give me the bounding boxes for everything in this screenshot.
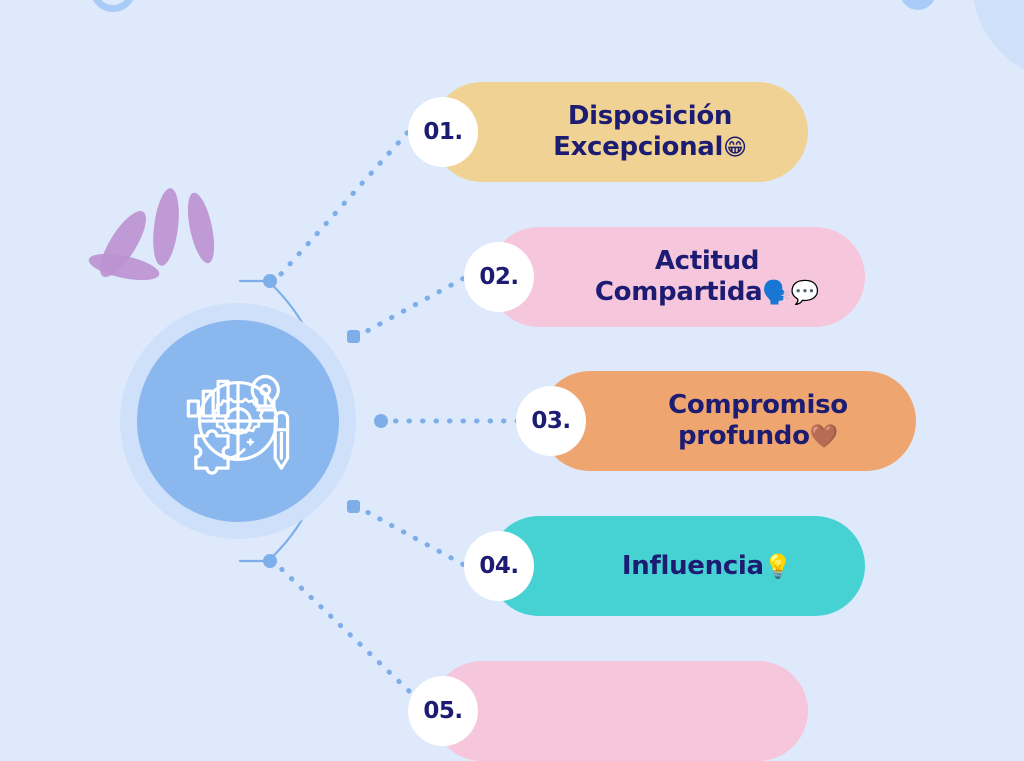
decorative-circle-pale-corner [972, 0, 1024, 82]
petal-4 [183, 190, 219, 265]
pill-03-line2: profundo [678, 421, 810, 451]
hub-circle[interactable] [137, 320, 339, 522]
pill-02-line2: Compartida [595, 277, 763, 307]
pill-03-text: Compromisoprofundo🤎 [582, 390, 874, 451]
badge-04[interactable]: 04. [464, 531, 534, 601]
grinning-squinting-face-emoji: 😁 [723, 135, 747, 161]
pill-actitud-compartida[interactable]: ActitudCompartida🗣️💬 [489, 227, 865, 327]
strategy-innovation-icon [176, 359, 300, 483]
pill-02-line1: Actitud [655, 246, 759, 276]
badge-05-label: 05. [423, 698, 462, 724]
decorative-petals [92, 178, 237, 293]
light-bulb-emoji: 💡 [764, 554, 792, 580]
pill-compromiso-profundo[interactable]: Compromisoprofundo🤎 [540, 371, 916, 471]
people-talking-speech-bubble-emoji: 🗣️💬 [762, 280, 819, 306]
pill-disposicion-excepcional[interactable]: DisposiciónExcepcional😁 [432, 82, 808, 182]
badge-03-label: 03. [531, 408, 570, 434]
pill-01-line1: Disposición [568, 101, 732, 131]
pill-03-line1: Compromiso [668, 390, 848, 420]
badge-02[interactable]: 02. [464, 242, 534, 312]
infographic-canvas: DisposiciónExcepcional😁 01. ActitudCompa… [0, 0, 1024, 700]
petal-3 [149, 187, 182, 267]
pill-influencia[interactable]: Influencia💡 [489, 516, 865, 616]
badge-02-label: 02. [479, 264, 518, 290]
pill-02-text: ActitudCompartida🗣️💬 [509, 246, 845, 307]
badge-04-label: 04. [479, 553, 518, 579]
pill-01-text: DisposiciónExcepcional😁 [467, 101, 773, 162]
brown-heart-emoji: 🤎 [810, 424, 838, 450]
decorative-circle-solid-top-right [900, 0, 936, 10]
badge-03[interactable]: 03. [516, 386, 586, 456]
pill-01-line2: Excepcional [553, 132, 723, 162]
pill-04-line1: Influencia [622, 551, 764, 581]
badge-01[interactable]: 01. [408, 97, 478, 167]
badge-01-label: 01. [423, 119, 462, 145]
pill-item-05-cutoff[interactable] [432, 661, 808, 761]
badge-05[interactable]: 05. [408, 676, 478, 746]
pill-04-text: Influencia💡 [536, 551, 818, 582]
decorative-circle-outline-top-left [90, 0, 136, 12]
